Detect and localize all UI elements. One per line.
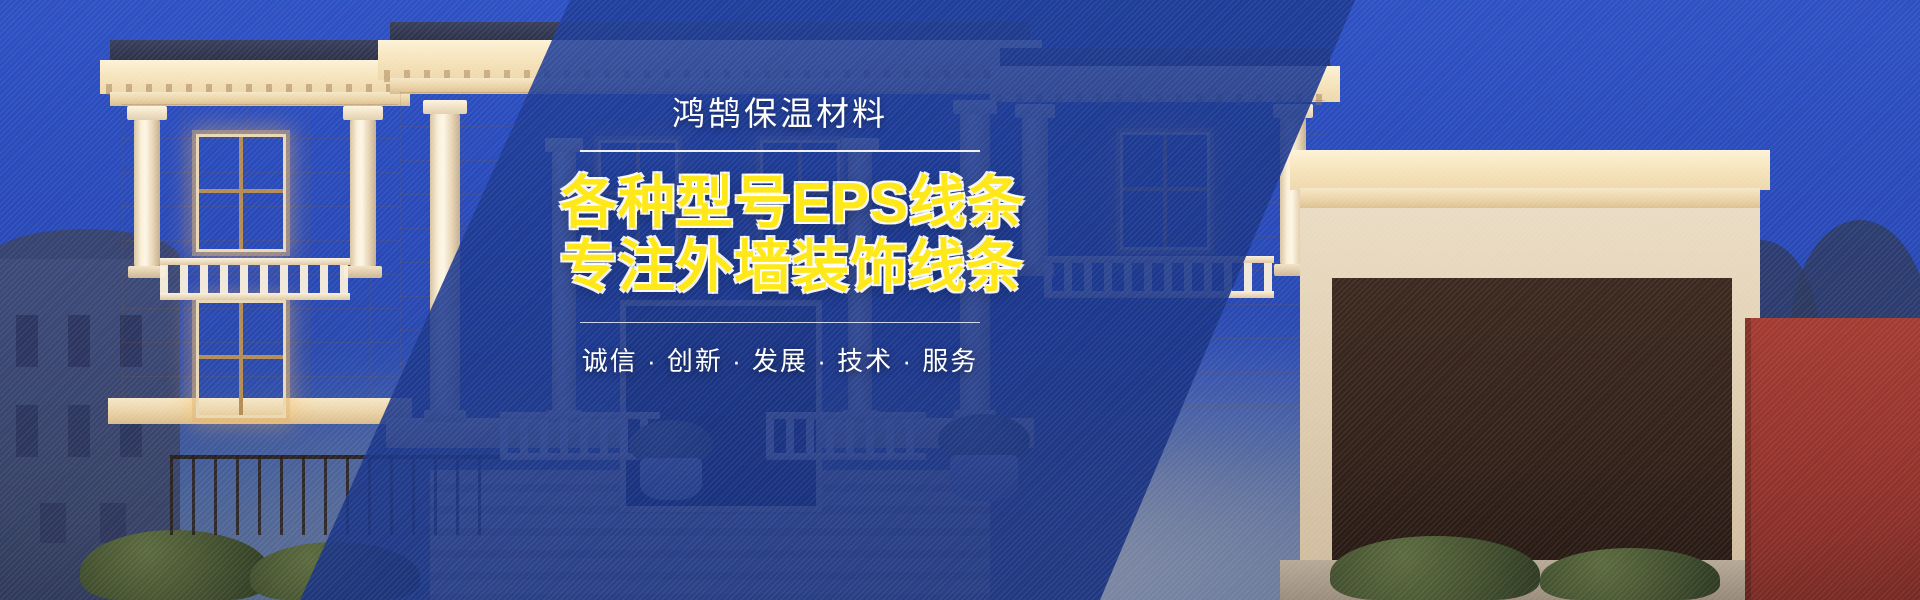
window-lit	[196, 300, 286, 418]
brand-name: 鸿鹄保温材料	[560, 96, 1000, 132]
column	[350, 118, 376, 268]
left-wing-roof	[110, 40, 410, 62]
red-wall	[1745, 318, 1920, 600]
headline-line-1: 各种型号EPS线条	[560, 172, 1000, 236]
headline-group: 各种型号EPS线条 专注外墙装饰线条	[560, 172, 1000, 300]
banner-copy: 鸿鹄保温材料 各种型号EPS线条 专注外墙装饰线条 诚信 · 创新 · 发展 ·…	[560, 96, 1000, 378]
garage-band	[1300, 188, 1760, 210]
garage-cornice	[1290, 150, 1770, 190]
divider-bottom	[580, 322, 980, 323]
garage-door	[1332, 278, 1732, 570]
headline-line-2: 专注外墙装饰线条	[560, 236, 1000, 300]
column	[134, 118, 160, 268]
balustrade	[160, 258, 350, 300]
divider-top	[580, 150, 980, 152]
tagline: 诚信 · 创新 · 发展 · 技术 · 服务	[560, 341, 1000, 378]
banner-root: 鸿鹄保温材料 各种型号EPS线条 专注外墙装饰线条 诚信 · 创新 · 发展 ·…	[0, 0, 1920, 600]
window-lit	[196, 134, 286, 252]
